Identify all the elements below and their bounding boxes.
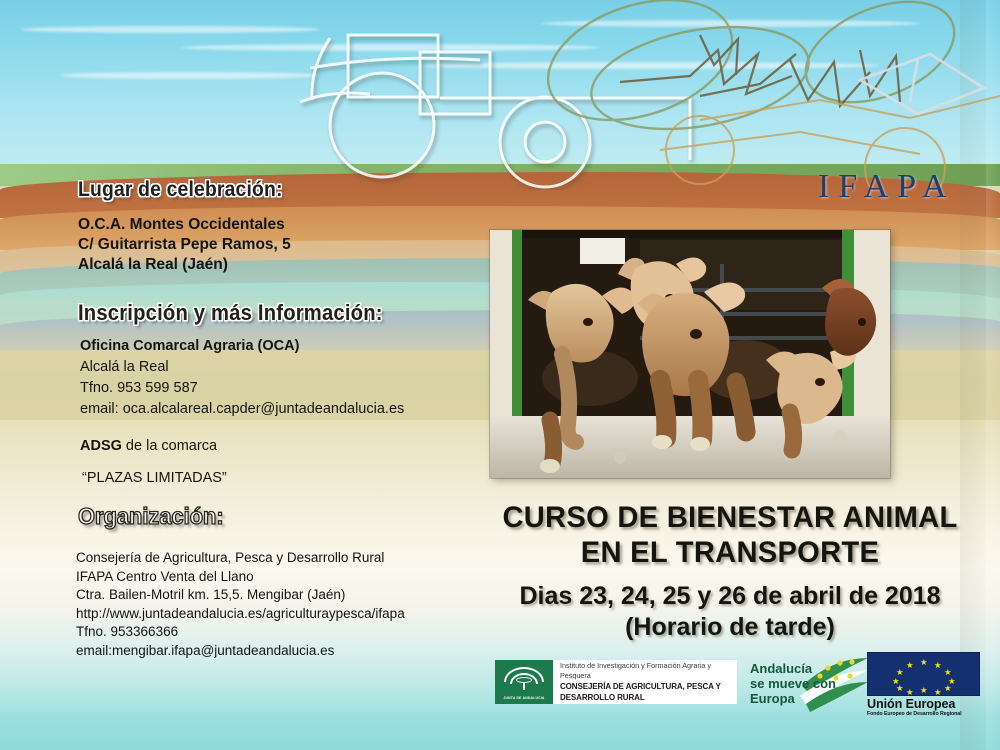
andalucia-text: Andalucía se mueve con Europa [750,661,872,706]
venue-address-line: O.C.A. Montes Occidentales [78,215,291,235]
logo-strip: JUNTA DE ANDALUCIA Instituto de Investig… [495,652,995,724]
junta-andalucia-icon: JUNTA DE ANDALUCIA [495,660,553,704]
venue-heading: Lugar de celebración: [78,178,283,202]
junta-cap [516,677,532,683]
registration-heading: Inscripción y más Información: [78,300,383,326]
poster-canvas: IFAPA Lugar de celebración: O.C.A. Monte… [0,0,1000,750]
course-dates-line1: Dias 23, 24, 25 y 26 de abril de 2018 [470,581,990,612]
organization-details: Consejería de Agricultura, Pesca y Desar… [76,549,405,660]
course-dates-line2: (Horario de tarde) [470,612,990,643]
european-union-logo: ★ ★ ★ ★ ★ ★ ★ ★ ★ ★ ★ ★ Unión Europea Fo… [867,652,989,724]
eu-subtitle: Fondo Europeo de Desarrollo Regional [867,711,989,717]
office-town: Alcalá la Real [80,357,404,378]
junta-andalucia-logo: JUNTA DE ANDALUCIA Instituto de Investig… [495,660,737,704]
venue-address: O.C.A. Montes Occidentales C/ Guitarrist… [78,215,291,275]
organization-email[interactable]: email:mengibar.ifapa@juntadeandalucia.es [76,642,405,661]
course-title-line1: CURSO DE BIENESTAR ANIMAL [478,500,982,535]
registration-details: Oficina Comarcal Agraria (OCA) Alcalá la… [80,336,404,420]
organization-line: Ctra. Bailen-Motril km. 15,5. Mengibar (… [76,586,405,605]
organization-line: IFAPA Centro Venta del Llano [76,568,405,587]
junta-institute-line: Instituto de Investigación y Formación A… [560,661,737,681]
ifapa-wordmark: IFAPA [818,168,956,206]
junta-mark-label: JUNTA DE ANDALUCIA [495,696,553,700]
course-title-line2: EN EL TRANSPORTE [478,535,982,570]
office-email[interactable]: email: oca.alcalareal.capder@juntadeanda… [80,399,404,420]
tractor-lineart-decoration [0,0,1000,190]
office-phone: Tfno. 953 599 587 [80,378,404,399]
adsg-rest: de la comarca [122,438,217,454]
course-dates: Dias 23, 24, 25 y 26 de abril de 2018 (H… [470,581,990,643]
andalucia-europa-logo: Andalucía se mueve con Europa [750,654,872,712]
junta-text-block: Instituto de Investigación y Formación A… [553,661,737,703]
organization-line: Consejería de Agricultura, Pesca y Desar… [76,549,405,568]
venue-address-line: C/ Guitarrista Pepe Ramos, 5 [78,235,291,255]
adsg-label: ADSG [80,438,122,454]
organization-website[interactable]: http://www.juntadeandalucia.es/agricultu… [76,605,405,624]
organization-heading: Organización: [78,503,224,530]
junta-consejeria-line: CONSEJERÍA DE AGRICULTURA, PESCA Y DESAR… [560,681,737,703]
limited-places-note: “PLAZAS LIMITADAS” [82,468,227,489]
venue-address-line: Alcalá la Real (Jaén) [78,255,291,275]
andalucia-line1: Andalucía [750,661,872,676]
adsg-line: ADSG de la comarca [80,436,217,457]
office-name: Oficina Comarcal Agraria (OCA) [80,336,404,357]
andalucia-line2: se mueve con Europa [750,676,872,706]
course-title: CURSO DE BIENESTAR ANIMAL EN EL TRANSPOR… [478,500,982,570]
organization-phone: Tfno. 953366366 [76,623,405,642]
eu-name: Unión Europea [867,697,989,711]
eu-flag-icon: ★ ★ ★ ★ ★ ★ ★ ★ ★ ★ ★ ★ [867,652,980,696]
goats-photo [490,230,890,478]
